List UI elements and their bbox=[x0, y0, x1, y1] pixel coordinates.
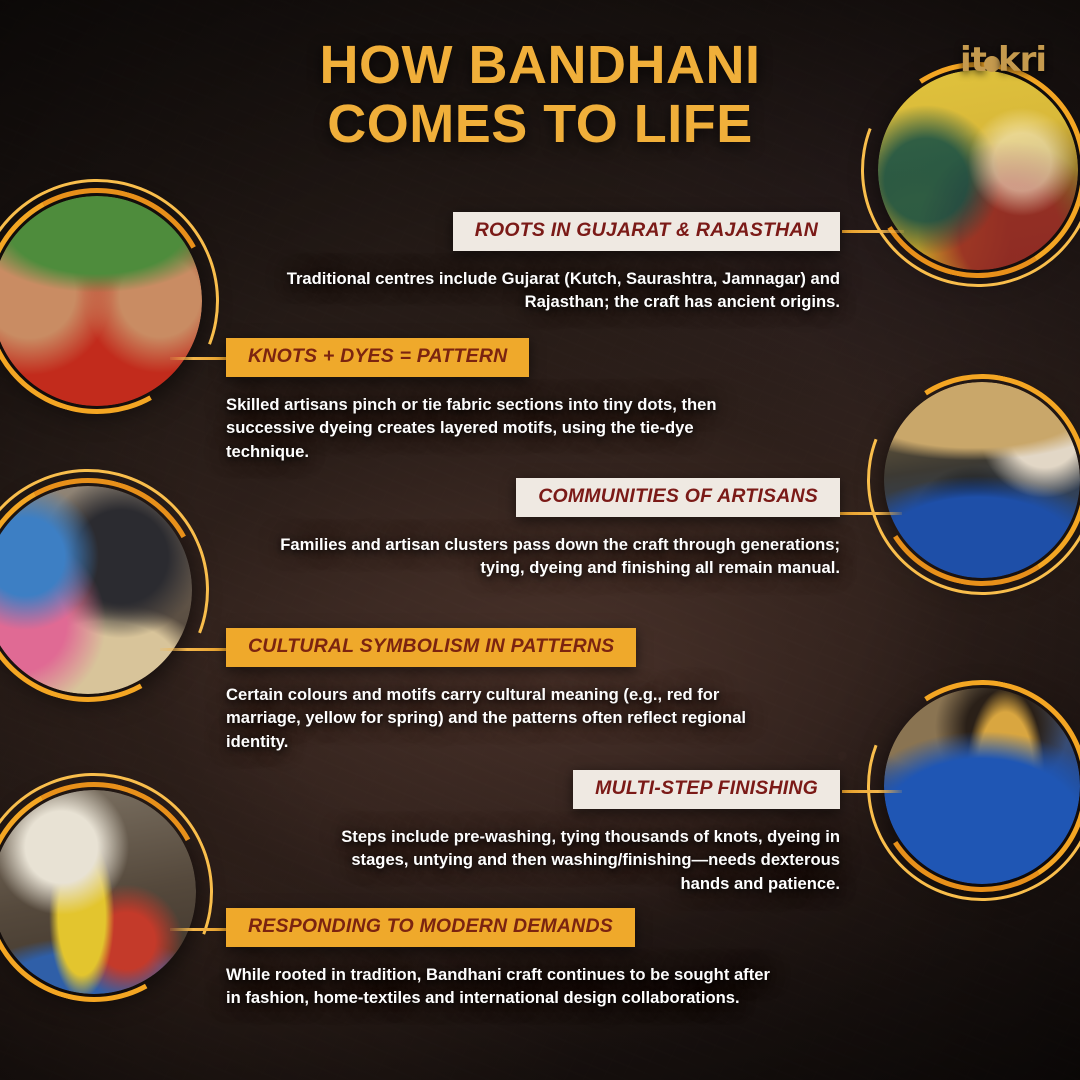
connector-line-symbolism bbox=[160, 648, 228, 651]
photo-dye-vat-blue-yellow bbox=[884, 688, 1080, 884]
section-body-finishing: Steps include pre-washing, tying thousan… bbox=[300, 825, 840, 896]
section-modern-demands: RESPONDING TO MODERN DEMANDS While roote… bbox=[226, 908, 786, 1010]
connector-line-roots bbox=[842, 230, 904, 233]
section-badge-roots[interactable]: ROOTS IN GUJARAT & RAJASTHAN bbox=[453, 212, 840, 251]
section-badge-knots-dyes[interactable]: KNOTS + DYES = PATTERN bbox=[226, 338, 529, 377]
photo-image bbox=[0, 790, 196, 994]
section-symbolism: CULTURAL SYMBOLISM IN PATTERNS Certain c… bbox=[226, 628, 786, 753]
section-body-modern-demands: While rooted in tradition, Bandhani craf… bbox=[226, 963, 786, 1010]
connector-line-knots bbox=[170, 357, 228, 360]
section-knots-dyes: KNOTS + DYES = PATTERN Skilled artisans … bbox=[226, 338, 766, 463]
connector-line-finishing bbox=[842, 790, 902, 793]
section-badge-symbolism[interactable]: CULTURAL SYMBOLISM IN PATTERNS bbox=[226, 628, 636, 667]
photo-dyer-blue-vat bbox=[884, 382, 1080, 578]
connector-line-communities bbox=[840, 512, 902, 515]
section-body-communities: Families and artisan clusters pass down … bbox=[236, 533, 840, 580]
section-communities: COMMUNITIES OF ARTISANS Families and art… bbox=[236, 478, 840, 580]
title-line-1: HOW BANDHANI bbox=[0, 36, 1080, 95]
photo-woman-tying-cream bbox=[0, 486, 192, 694]
brand-logo-part-b: kri bbox=[998, 40, 1046, 80]
page-title: HOW BANDHANI COMES TO LIFE bbox=[0, 36, 1080, 155]
section-roots: ROOTS IN GUJARAT & RAJASTHAN Traditional… bbox=[270, 212, 840, 314]
section-badge-finishing[interactable]: MULTI-STEP FINISHING bbox=[573, 770, 840, 809]
photo-image bbox=[0, 486, 192, 694]
brand-logo-part-a: it bbox=[960, 40, 986, 80]
photo-image bbox=[884, 382, 1080, 578]
infographic-poster: HOW BANDHANI COMES TO LIFE itkri ROOTS I… bbox=[0, 0, 1080, 1080]
section-body-symbolism: Certain colours and motifs carry cultura… bbox=[226, 683, 786, 754]
section-finishing: MULTI-STEP FINISHING Steps include pre-w… bbox=[300, 770, 840, 895]
section-badge-modern-demands[interactable]: RESPONDING TO MODERN DEMANDS bbox=[226, 908, 635, 947]
section-badge-communities[interactable]: COMMUNITIES OF ARTISANS bbox=[516, 478, 840, 517]
connector-line-modern bbox=[170, 928, 228, 931]
photo-hands-red-fabric bbox=[0, 196, 202, 406]
photo-artisan-yellow-bundle bbox=[0, 790, 196, 994]
photo-image bbox=[884, 688, 1080, 884]
section-body-knots-dyes: Skilled artisans pinch or tie fabric sec… bbox=[226, 393, 766, 464]
photo-image bbox=[0, 196, 202, 406]
title-line-2: COMES TO LIFE bbox=[0, 95, 1080, 154]
brand-logo-itokri[interactable]: itkri bbox=[960, 40, 1046, 80]
section-body-roots: Traditional centres include Gujarat (Kut… bbox=[270, 267, 840, 314]
